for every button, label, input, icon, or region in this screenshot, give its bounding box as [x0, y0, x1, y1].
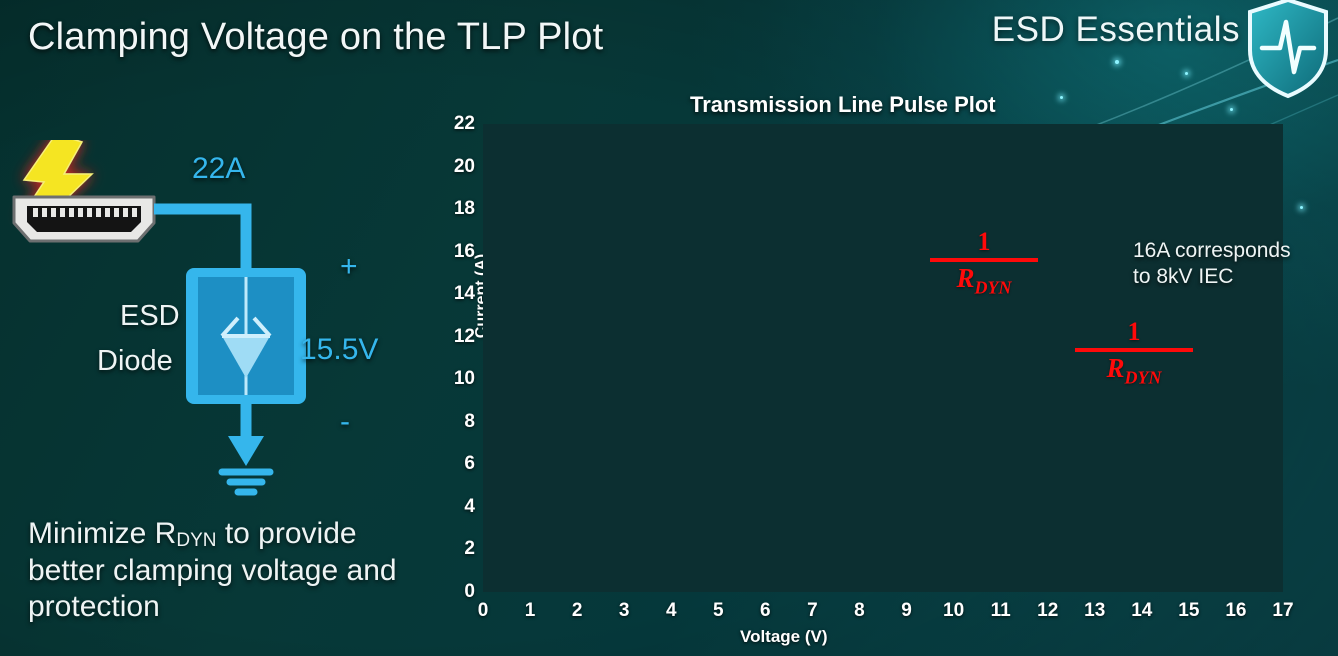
- y-tick-label: 20: [454, 156, 475, 178]
- tvs-diode-icon: [186, 268, 306, 404]
- x-tick-label: 2: [572, 600, 583, 622]
- slope-label-high-rdyn: 1 RDYN: [1075, 317, 1193, 388]
- current-label: 22A: [192, 152, 245, 186]
- slope-numerator: 1: [930, 227, 1038, 257]
- x-tick-label: 3: [619, 600, 630, 622]
- polarity-plus-label: +: [340, 250, 358, 284]
- page-title: Clamping Voltage on the TLP Plot: [28, 16, 603, 59]
- x-tick-label: 10: [943, 600, 964, 622]
- summary-note: Minimize RDYN to provide better clamping…: [28, 516, 428, 626]
- ground-symbol-icon: [222, 472, 270, 492]
- x-tick-label: 0: [478, 600, 489, 622]
- chart-title: Transmission Line Pulse Plot: [690, 92, 996, 118]
- x-axis-label: Voltage (V): [740, 627, 828, 647]
- y-tick-label: 18: [454, 198, 475, 220]
- y-tick-label: 14: [454, 283, 475, 305]
- x-tick-label: 11: [991, 600, 1011, 622]
- y-tick-label: 2: [464, 538, 475, 560]
- x-tick-label: 14: [1131, 600, 1152, 622]
- fraction-bar: [930, 258, 1038, 262]
- x-tick-label: 13: [1084, 600, 1105, 622]
- summary-note-subscript: DYN: [176, 530, 216, 551]
- x-tick-label: 4: [666, 600, 677, 622]
- x-tick-label: 8: [854, 600, 865, 622]
- shield-ekg-icon: [1242, 0, 1334, 100]
- x-tick-label: 16: [1225, 600, 1246, 622]
- summary-note-part1: Minimize R: [28, 517, 176, 550]
- fraction-bar: [1075, 348, 1193, 352]
- y-tick-label: 10: [454, 368, 475, 390]
- y-tick-label: 16: [454, 241, 475, 263]
- x-tick-label: 17: [1272, 600, 1293, 622]
- brand-label: ESD Essentials: [992, 10, 1240, 50]
- esd-circuit-diagram: 22A ESD Diode 15.5V + -: [0, 140, 420, 510]
- polarity-minus-label: -: [340, 405, 350, 439]
- x-tick-label: 6: [760, 600, 771, 622]
- x-tick-label: 5: [713, 600, 724, 622]
- x-tick-label: 7: [807, 600, 818, 622]
- slide-root: Clamping Voltage on the TLP Plot ESD Ess…: [0, 0, 1338, 656]
- x-tick-label: 12: [1037, 600, 1058, 622]
- slope-numerator: 1: [1075, 317, 1193, 347]
- slope-denominator: RDYN: [930, 263, 1038, 298]
- x-tick-label: 9: [901, 600, 912, 622]
- slope-label-low-rdyn: 1 RDYN: [930, 227, 1038, 298]
- x-tick-label: 1: [525, 600, 536, 622]
- tlp-chart: Transmission Line Pulse Plot Current (A)…: [440, 92, 1310, 652]
- y-tick-label: 0: [464, 581, 475, 603]
- circuit-wires: [154, 209, 246, 268]
- y-tick-label: 22: [454, 113, 475, 135]
- hdmi-connector-icon: [14, 197, 154, 241]
- sparkle: [1115, 60, 1119, 64]
- y-tick-label: 4: [464, 496, 475, 518]
- clamp-voltage-label: 15.5V: [300, 333, 378, 367]
- sparkle: [1185, 72, 1188, 75]
- device-label-line1: ESD: [120, 300, 180, 333]
- y-tick-label: 6: [464, 453, 475, 475]
- slope-denominator: RDYN: [1075, 353, 1193, 388]
- y-tick-label: 8: [464, 411, 475, 433]
- x-tick-label: 15: [1178, 600, 1199, 622]
- device-label-line2: Diode: [97, 345, 173, 378]
- operating-point-callout: 16A corresponds to 8kV IEC: [1133, 238, 1338, 289]
- current-arrow-icon: [228, 436, 264, 466]
- y-tick-label: 12: [454, 326, 475, 348]
